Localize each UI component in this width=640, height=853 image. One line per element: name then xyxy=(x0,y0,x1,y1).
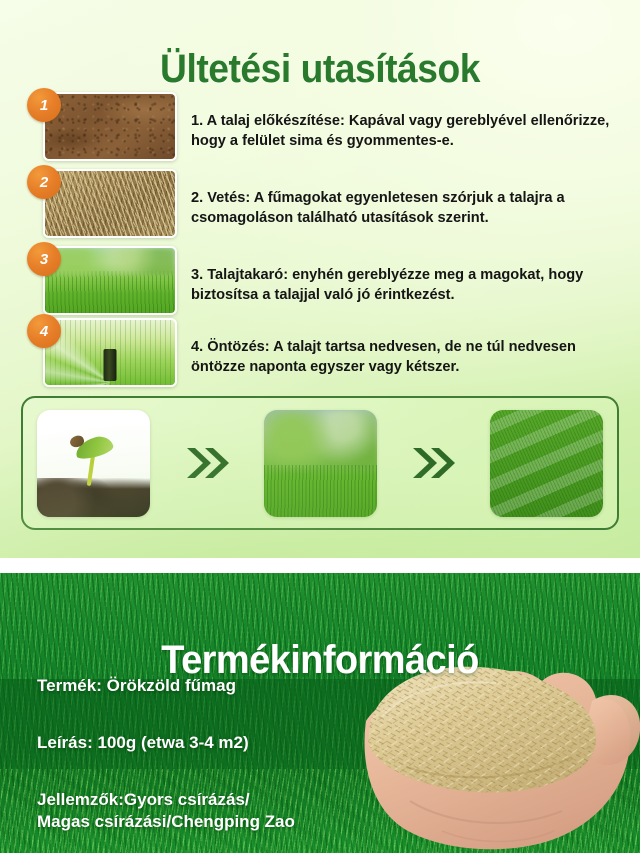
product-features-line-1: Jellemzők:Gyors csírázás/ xyxy=(37,790,250,810)
step-text-2: 2. Vetés: A fűmagokat egyenletesen szórj… xyxy=(191,188,625,229)
sprinkler-photo xyxy=(43,318,177,387)
instruction-step-3: 3 3. Talajtakaró: enyhén gereblyézze meg… xyxy=(0,242,640,320)
product-information-panel: Termékinformáció xyxy=(0,573,640,853)
instruction-step-1: 1 1. A talaj előkészítése: Kapával vagy … xyxy=(0,88,640,166)
mature-striped-lawn-photo xyxy=(490,410,603,517)
green-lawn-photo xyxy=(43,246,177,315)
step-number-badge-4: 4 xyxy=(27,314,61,348)
step-number-badge-3: 3 xyxy=(27,242,61,276)
soil-rake-photo xyxy=(43,92,177,161)
young-grass-photo xyxy=(264,410,377,517)
growth-progression-strip xyxy=(21,396,619,530)
page-title: Ültetési utasítások xyxy=(22,48,617,91)
double-chevron-right-icon xyxy=(184,443,230,483)
grass-seeds-photo xyxy=(43,169,177,238)
sprinkler-spray-texture xyxy=(45,320,175,385)
section-divider xyxy=(0,558,640,573)
soil-texture xyxy=(45,94,175,159)
planting-instructions-panel: Ültetési utasítások 1 1. A talaj előkész… xyxy=(0,0,640,558)
step-text-3: 3. Talajtakaró: enyhén gereblyézze meg a… xyxy=(191,265,625,306)
sprout-soil-mound xyxy=(37,478,150,517)
double-chevron-right-icon xyxy=(410,443,456,483)
lawn-texture xyxy=(45,248,175,313)
progression-arrow-1 xyxy=(150,443,264,483)
sprinkler-head-icon xyxy=(104,349,117,381)
product-description: Leírás: 100g (etwa 3-4 m2) xyxy=(37,733,249,753)
seedling-sprout-photo xyxy=(37,410,150,517)
instruction-step-4: 4 4. Öntözés: A talajt tartsa nedvesen, … xyxy=(0,314,640,392)
progression-arrow-2 xyxy=(377,443,491,483)
instruction-step-2: 2 2. Vetés: A fűmagokat egyenletesen szó… xyxy=(0,165,640,243)
seed-texture xyxy=(45,171,175,236)
product-features-line-2: Magas csírázási/Chengping Zao xyxy=(37,812,295,832)
step-text-4: 4. Öntözés: A talajt tartsa nedvesen, de… xyxy=(191,337,625,378)
step-number-badge-1: 1 xyxy=(27,88,61,122)
step-number-badge-2: 2 xyxy=(27,165,61,199)
product-name: Termék: Örökzöld fűmag xyxy=(37,676,236,696)
step-text-1: 1. A talaj előkészítése: Kapával vagy ge… xyxy=(191,111,625,152)
